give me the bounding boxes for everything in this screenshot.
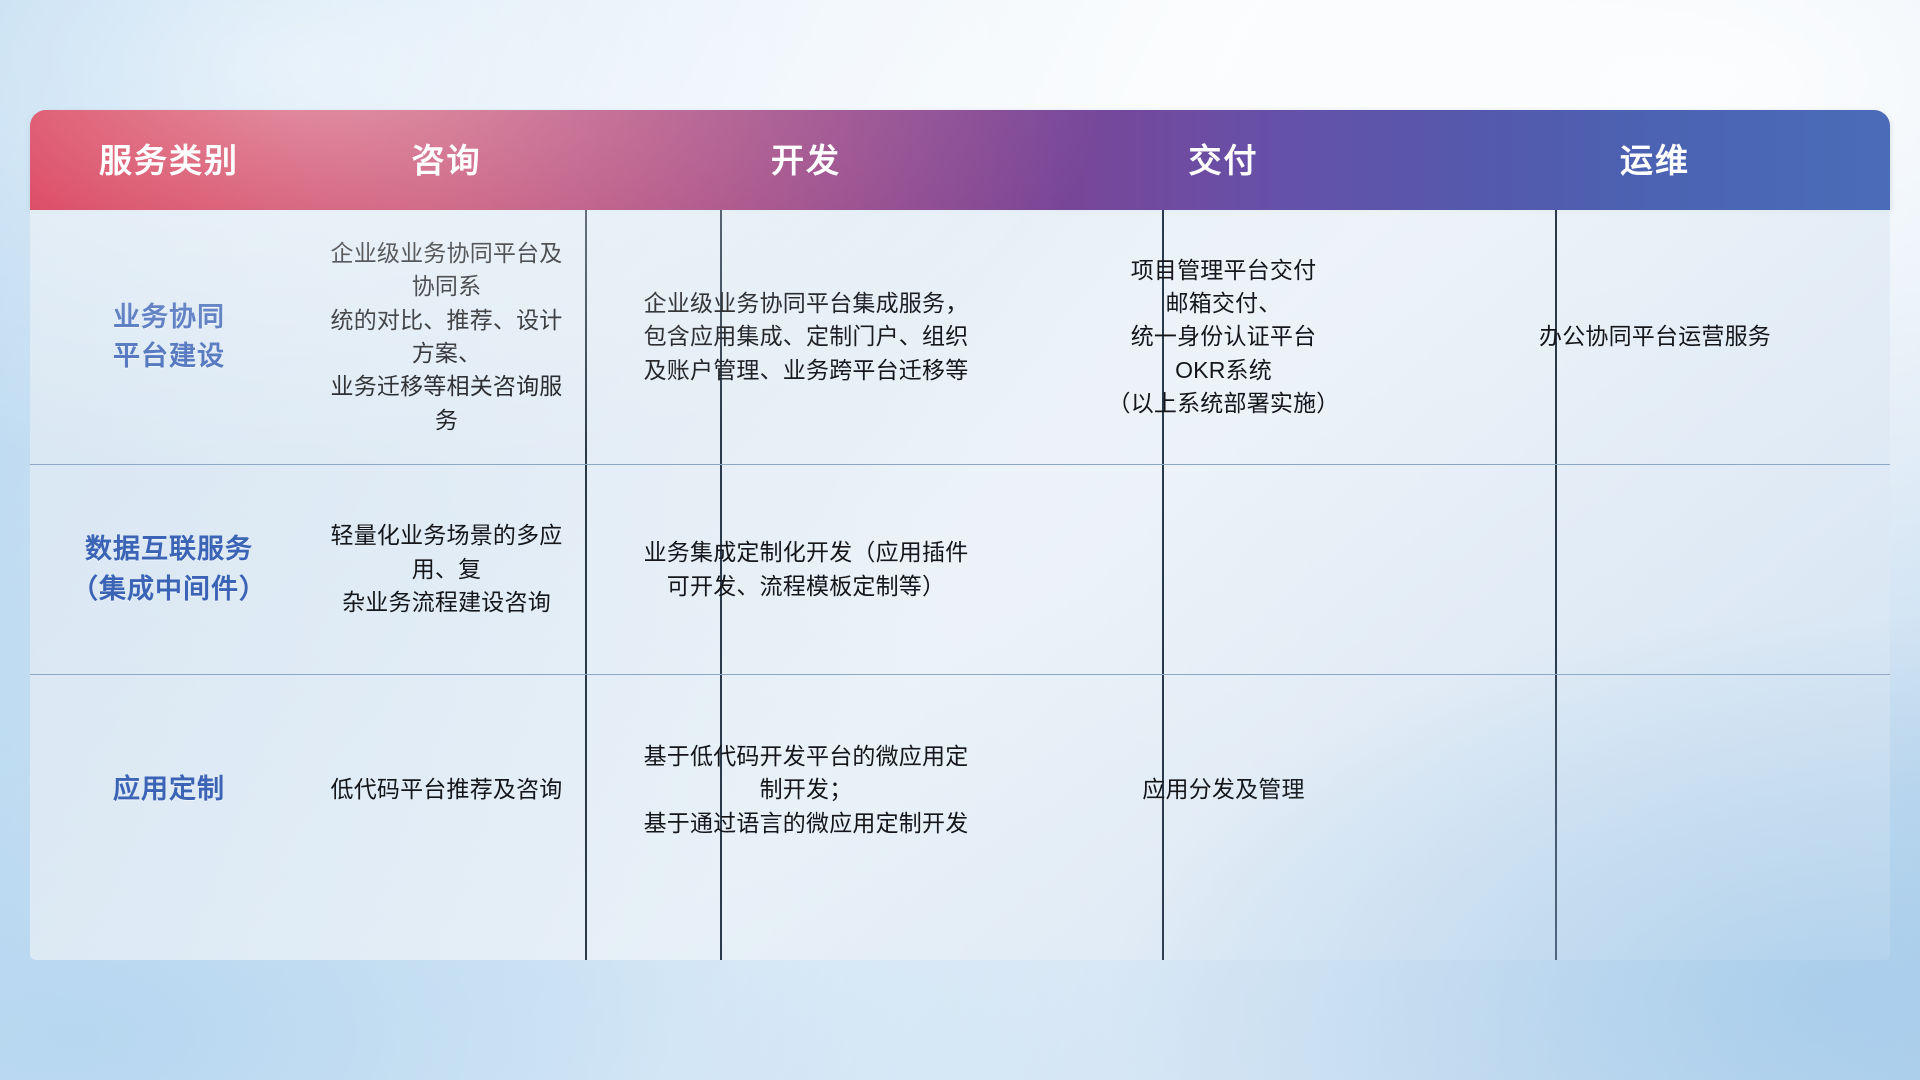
- cell-r2-delivery: [1027, 465, 1420, 674]
- cell-r2-consulting: 轻量化业务场景的多应用、复杂业务流程建设咨询: [308, 465, 585, 674]
- table-header-cell-service-category: 服务类别: [30, 144, 308, 177]
- cell-r1-consulting: 企业级业务协同平台及协同系统的对比、推荐、设计方案、业务迁移等相关咨询服务: [308, 210, 585, 464]
- cell-r3-delivery: 应用分发及管理: [1027, 675, 1420, 905]
- service-matrix-table: 服务类别 咨询 开发 交付 运维 业务协同平台建设 企业级业务协同平台及协同系统…: [30, 110, 1890, 960]
- table-row: 业务协同平台建设 企业级业务协同平台及协同系统的对比、推荐、设计方案、业务迁移等…: [30, 210, 1890, 465]
- cell-r3-operations: [1420, 675, 1890, 905]
- table-header-cell-consulting: 咨询: [308, 144, 585, 177]
- cell-r1-development: 企业级业务协同平台集成服务，包含应用集成、定制门户、组织及账户管理、业务跨平台迁…: [585, 210, 1027, 464]
- cell-r3-development: 基于低代码开发平台的微应用定制开发；基于通过语言的微应用定制开发: [585, 675, 1027, 905]
- table-header-cell-operations: 运维: [1420, 144, 1890, 177]
- table-header-cell-delivery: 交付: [1027, 144, 1420, 177]
- row-label-app-customization: 应用定制: [30, 675, 308, 905]
- cell-r2-operations: [1420, 465, 1890, 674]
- cell-r2-development: 业务集成定制化开发（应用插件可开发、流程模板定制等）: [585, 465, 1027, 674]
- slide-canvas: 服务类别 咨询 开发 交付 运维 业务协同平台建设 企业级业务协同平台及协同系统…: [0, 0, 1920, 1080]
- table-row: 应用定制 低代码平台推荐及咨询 基于低代码开发平台的微应用定制开发；基于通过语言…: [30, 675, 1890, 905]
- table-row: 数据互联服务（集成中间件） 轻量化业务场景的多应用、复杂业务流程建设咨询 业务集…: [30, 465, 1890, 675]
- table-header-row: 服务类别 咨询 开发 交付 运维: [30, 110, 1890, 210]
- table-header-cell-development: 开发: [585, 144, 1027, 177]
- table-body: 业务协同平台建设 企业级业务协同平台及协同系统的对比、推荐、设计方案、业务迁移等…: [30, 210, 1890, 960]
- cell-r3-consulting: 低代码平台推荐及咨询: [308, 675, 585, 905]
- row-label-data-interconnect: 数据互联服务（集成中间件）: [30, 465, 308, 674]
- cell-r1-operations: 办公协同平台运营服务: [1420, 210, 1890, 464]
- cell-r1-delivery: 项目管理平台交付邮箱交付、统一身份认证平台OKR系统（以上系统部署实施）: [1027, 210, 1420, 464]
- row-label-business-collaboration: 业务协同平台建设: [30, 210, 308, 464]
